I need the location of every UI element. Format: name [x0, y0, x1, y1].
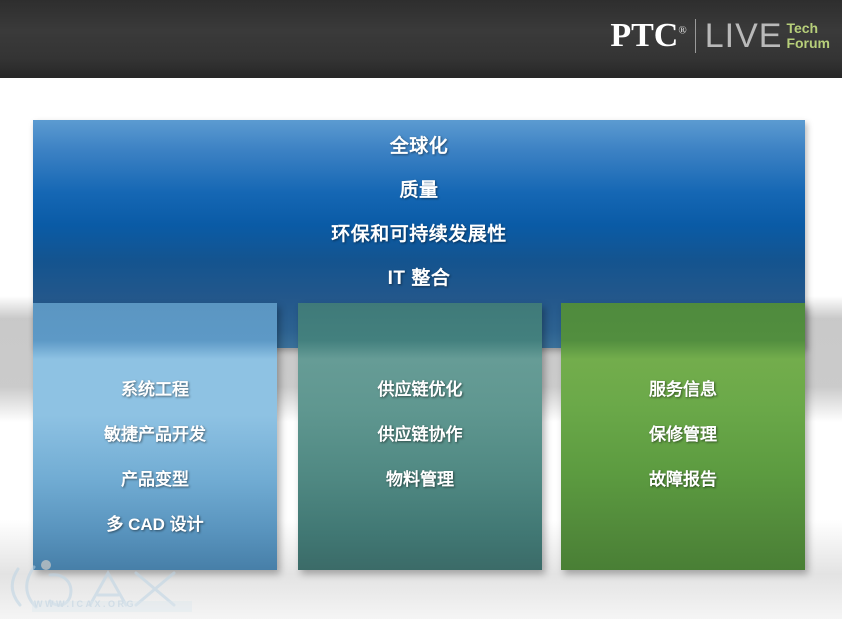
column-item: 产品变型	[121, 471, 189, 488]
logo-tech-forum-text: Tech Forum	[786, 21, 830, 51]
top-theme-item: 质量	[399, 175, 438, 202]
logo-ptc-wordmark: PTC®	[610, 19, 686, 53]
column-item: 故障报告	[649, 471, 717, 488]
column-item: 多 CAD 设计	[106, 516, 203, 533]
column-engineering: 系统工程 敏捷产品开发 产品变型 多 CAD 设计	[33, 303, 277, 570]
column-item: 服务信息	[649, 381, 717, 398]
logo-tech-line: Tech	[786, 21, 830, 36]
top-theme-item: 环保和可持续发展性	[331, 219, 507, 246]
column-service: 服务信息 保修管理 故障报告	[561, 303, 805, 570]
column-item: 系统工程	[121, 381, 189, 398]
logo-forum-line: Forum	[786, 36, 830, 51]
column-item: 供应链优化	[378, 381, 463, 398]
header-bar: PTC® LIVE Tech Forum	[0, 0, 842, 78]
column-item: 敏捷产品开发	[104, 426, 206, 443]
column-item: 供应链协作	[378, 426, 463, 443]
slide-canvas: PTC® LIVE Tech Forum 全球化 质量 环保和可持续发展性 IT…	[0, 0, 842, 619]
top-theme-item: 全球化	[390, 131, 449, 158]
column-supply-chain: 供应链优化 供应链协作 物料管理	[298, 303, 542, 570]
column-item: 保修管理	[649, 426, 717, 443]
logo-divider	[695, 19, 696, 53]
ptc-live-tech-forum-logo: PTC® LIVE Tech Forum	[610, 14, 830, 58]
logo-live-text: LIVE	[705, 19, 783, 53]
top-themes-list: 全球化 质量 环保和可持续发展性 IT 整合	[33, 120, 805, 300]
logo-ptc-text: PTC	[610, 17, 678, 54]
registered-trademark-icon: ®	[678, 25, 686, 37]
top-theme-item: IT 整合	[388, 263, 451, 290]
column-item: 物料管理	[386, 471, 454, 488]
